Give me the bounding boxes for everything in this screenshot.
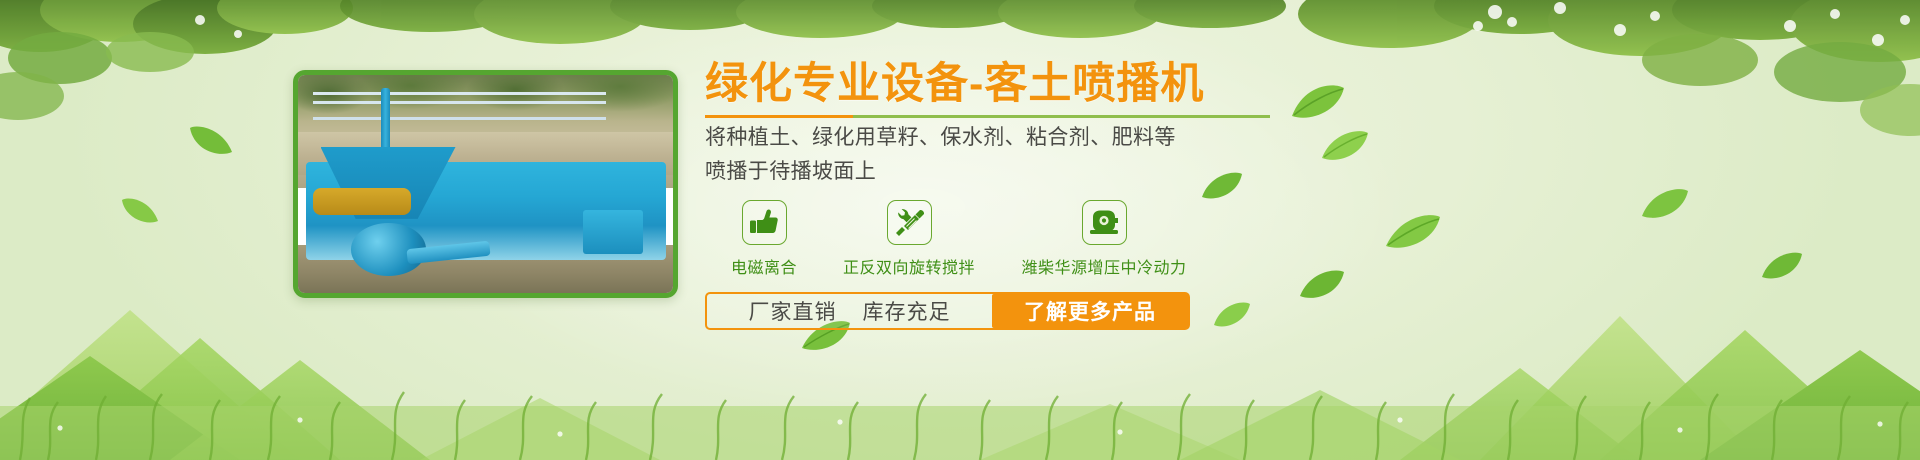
thumbs-up-glyph	[749, 208, 779, 236]
floating-leaf-icon	[1760, 250, 1804, 282]
floating-leaf-icon	[1640, 186, 1690, 222]
title-divider	[705, 115, 1270, 118]
cta-bar: 厂家直销 库存充足 了解更多产品	[705, 292, 1190, 330]
feature-label: 电磁离合	[705, 254, 823, 278]
learn-more-button[interactable]: 了解更多产品	[992, 294, 1188, 328]
promo-banner: 绿化专业设备-客土喷播机 将种植土、绿化用草籽、保水剂、粘合剂、肥料等 喷播于待…	[0, 0, 1920, 460]
floating-leaf-icon	[120, 196, 160, 226]
product-photo[interactable]	[293, 70, 678, 298]
feature-item-weichai-power[interactable]: 潍柴华源增压中冷动力	[995, 200, 1213, 278]
feature-label: 潍柴华源增压中冷动力	[995, 254, 1213, 278]
thumbs-up-icon	[742, 200, 787, 245]
page-title: 绿化专业设备-客土喷播机	[705, 62, 1325, 107]
subtitle-line-2: 喷播于待播坡面上	[705, 158, 1325, 186]
floating-leaf-icon	[1384, 212, 1442, 252]
grass-foreground	[0, 310, 1920, 460]
engine-gear-icon	[1082, 200, 1127, 245]
cta-tags: 厂家直销 库存充足	[707, 294, 992, 328]
wrench-screwdriver-icon	[887, 200, 932, 245]
engine-gear-glyph	[1089, 208, 1119, 236]
subtitle-line-1: 将种植土、绿化用草籽、保水剂、粘合剂、肥料等	[705, 124, 1325, 152]
product-photo-image	[298, 75, 673, 293]
feature-list: 电磁离合 正反双向旋转搅拌	[705, 200, 1325, 278]
feature-label: 正反双向旋转搅拌	[823, 254, 995, 278]
wrench-screwdriver-glyph	[894, 207, 924, 237]
banner-content: 绿化专业设备-客土喷播机 将种植土、绿化用草籽、保水剂、粘合剂、肥料等 喷播于待…	[705, 62, 1325, 330]
feature-item-bidirectional-mixing[interactable]: 正反双向旋转搅拌	[823, 200, 995, 278]
cta-tag-factory-direct: 厂家直销	[749, 296, 837, 326]
grass-svg	[0, 310, 1920, 460]
floating-leaf-icon	[188, 124, 234, 158]
cta-tag-in-stock: 库存充足	[863, 296, 951, 326]
floating-leaf-icon	[1320, 128, 1370, 164]
feature-item-electromagnetic-clutch[interactable]: 电磁离合	[705, 200, 823, 278]
